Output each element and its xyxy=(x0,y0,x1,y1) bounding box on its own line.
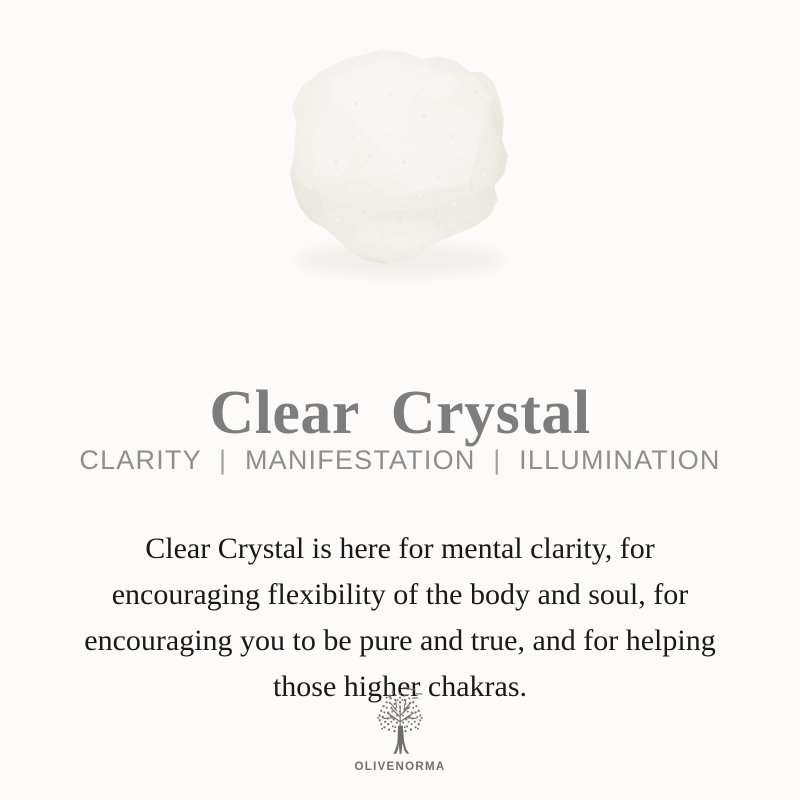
keyword-clarity: CLARITY xyxy=(79,445,201,475)
olive-tree-with-birds-icon xyxy=(361,682,439,760)
crystal-body xyxy=(232,28,552,300)
brand-wordmark: OLIVENORMA xyxy=(0,761,800,773)
keyword-list: CLARITY | MANIFESTATION | ILLUMINATION xyxy=(0,443,800,477)
hero-image-area xyxy=(0,0,800,320)
description-line: encouraging flexibility of the body and … xyxy=(50,572,750,618)
clear-crystal-illustration xyxy=(232,28,552,300)
product-info-card: Clear Crystal CLARITY | MANIFESTATION | … xyxy=(0,0,800,800)
description-line: encouraging you to be pure and true, and… xyxy=(50,618,750,664)
crystal-image xyxy=(232,28,552,300)
keyword-separator: | xyxy=(210,443,236,477)
keyword-separator: | xyxy=(484,443,510,477)
page-title: Clear Crystal xyxy=(0,378,800,448)
keyword-manifestation: MANIFESTATION xyxy=(245,445,476,475)
description-line: Clear Crystal is here for mental clarity… xyxy=(50,526,750,572)
brand-logo: OLIVENORMA xyxy=(0,682,800,773)
keyword-illumination: ILLUMINATION xyxy=(519,445,720,475)
